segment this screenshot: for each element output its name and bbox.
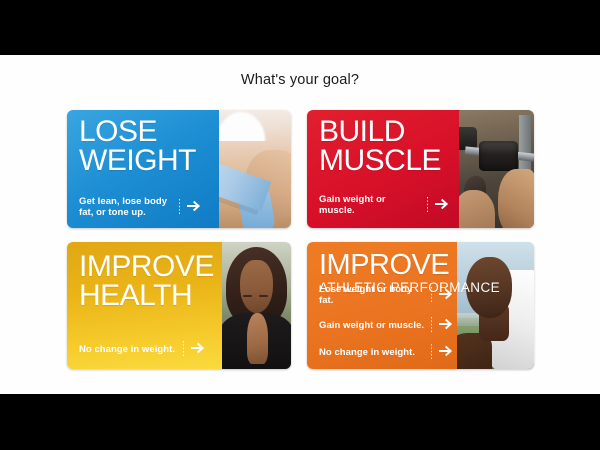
- headline-line-2: HEALTH: [79, 281, 214, 310]
- dotted-divider: [183, 341, 184, 358]
- waist-measuring-tape-photo: [219, 110, 291, 228]
- dotted-divider: [431, 317, 432, 334]
- page-title: What's your goal?: [0, 72, 600, 88]
- goal-card-improve-athletic-performance[interactable]: IMPROVE ATHLETIC PERFORMANCE Lose weight…: [307, 242, 534, 369]
- goal-option-label: Gain weight or muscle.: [319, 194, 423, 217]
- card-actions: Gain weight or muscle.: [319, 194, 449, 217]
- headline-line-2: WEIGHT: [79, 146, 196, 175]
- dotted-divider: [427, 197, 428, 214]
- goal-option-label: No change in weight.: [319, 347, 427, 359]
- headline-line-1: BUILD: [319, 117, 441, 146]
- arrow-right-icon[interactable]: [187, 200, 201, 215]
- goal-option-row[interactable]: Gain weight or muscle.: [319, 194, 449, 217]
- goal-option-label: Lose weight or body fat.: [319, 284, 427, 307]
- goal-card-lose-weight[interactable]: LOSE WEIGHT Get lean, lose body fat, or …: [67, 110, 291, 228]
- card-actions: No change in weight.: [79, 341, 205, 358]
- card-headline: BUILD MUSCLE: [319, 117, 441, 176]
- arrow-right-icon[interactable]: [435, 198, 449, 213]
- goal-card-build-muscle[interactable]: BUILD MUSCLE Gain weight or muscle.: [307, 110, 534, 228]
- goal-option-label: Get lean, lose body fat, or tone up.: [79, 196, 175, 219]
- meditating-woman-photo: [222, 242, 291, 369]
- goal-option-row[interactable]: Lose weight or body fat.: [319, 284, 453, 307]
- dotted-divider: [431, 287, 432, 304]
- arrow-right-icon[interactable]: [439, 318, 453, 333]
- goal-option-label: No change in weight.: [79, 344, 179, 356]
- goal-option-label: Gain weight or muscle.: [319, 320, 427, 332]
- card-actions: Lose weight or body fat. Gain weight or …: [319, 284, 453, 361]
- headline-line-1: LOSE: [79, 117, 196, 146]
- headline-line-1: IMPROVE: [79, 252, 214, 281]
- arrow-right-icon[interactable]: [439, 345, 453, 360]
- letterbox-bottom: [0, 394, 600, 450]
- dotted-divider: [179, 199, 180, 216]
- goal-card-improve-health[interactable]: IMPROVE HEALTH No change in weight.: [67, 242, 291, 369]
- goal-option-row[interactable]: Gain weight or muscle.: [319, 317, 453, 334]
- screen: What's your goal? LOSE WEIGHT: [0, 0, 600, 450]
- headline-line-1: IMPROVE: [319, 251, 500, 280]
- goal-card-grid: LOSE WEIGHT Get lean, lose body fat, or …: [67, 110, 534, 381]
- content-stage: What's your goal? LOSE WEIGHT: [0, 55, 600, 394]
- bench-press-gym-photo: [459, 110, 534, 228]
- card-headline: LOSE WEIGHT: [79, 117, 196, 176]
- card-actions: Get lean, lose body fat, or tone up.: [79, 196, 201, 219]
- goal-option-row[interactable]: Get lean, lose body fat, or tone up.: [79, 196, 201, 219]
- headline-line-2: MUSCLE: [319, 146, 441, 175]
- goal-option-row[interactable]: No change in weight.: [79, 341, 205, 358]
- goal-option-row[interactable]: No change in weight.: [319, 344, 453, 361]
- card-headline: IMPROVE HEALTH: [79, 252, 214, 311]
- arrow-right-icon[interactable]: [439, 288, 453, 303]
- letterbox-top: [0, 0, 600, 55]
- arrow-right-icon[interactable]: [191, 342, 205, 357]
- dotted-divider: [431, 344, 432, 361]
